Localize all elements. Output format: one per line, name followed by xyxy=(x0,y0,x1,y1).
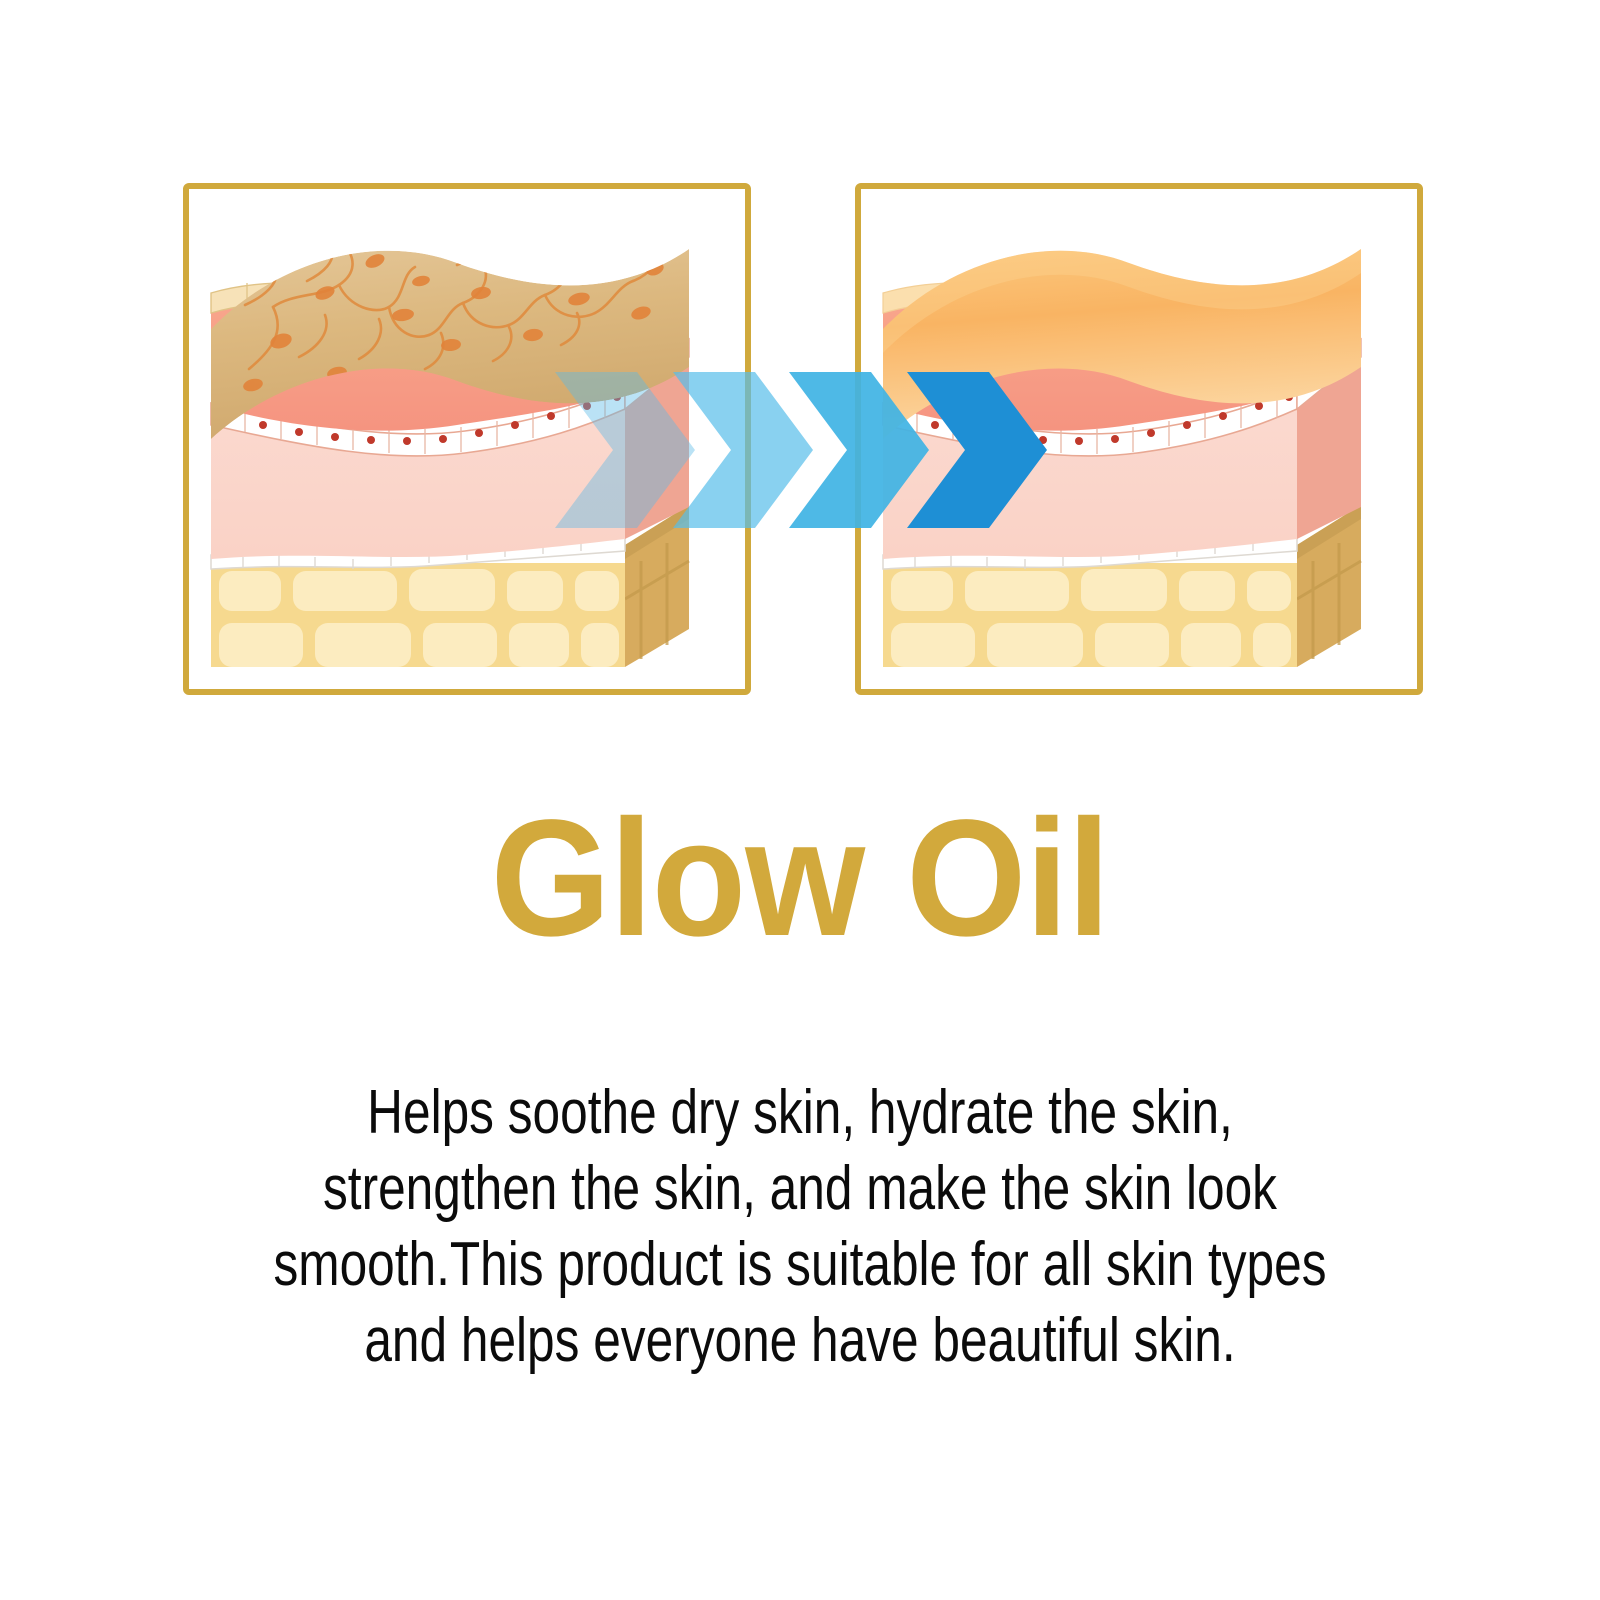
skin-diagram-damaged xyxy=(189,189,745,689)
healthy-skin-illustration xyxy=(861,189,1417,689)
product-description: Helps soothe dry skin, hydrate the skin,… xyxy=(240,1075,1360,1379)
damaged-skin-illustration xyxy=(189,189,745,689)
page-title: Glow Oil xyxy=(56,792,1544,966)
description-line-2: strengthen the skin, and make the skin l… xyxy=(240,1151,1360,1227)
description-line-3: smooth.This product is suitable for all … xyxy=(240,1227,1360,1303)
skin-diagram-healthy xyxy=(861,189,1417,689)
description-line-4: and helps everyone have beautiful skin. xyxy=(240,1303,1360,1379)
product-infographic-page: Glow Oil Helps soothe dry skin, hydrate … xyxy=(0,0,1600,1600)
skin-panel-after xyxy=(855,183,1423,695)
description-line-1: Helps soothe dry skin, hydrate the skin, xyxy=(240,1075,1360,1151)
skin-panel-before xyxy=(183,183,751,695)
